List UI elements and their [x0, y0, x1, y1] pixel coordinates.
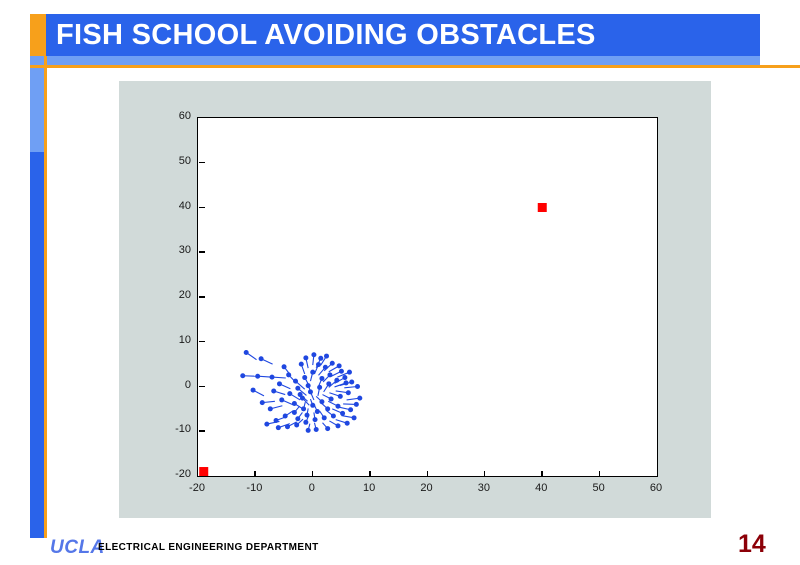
obstacle-markers-layer: [199, 203, 547, 476]
x-tick-label: 0: [292, 483, 332, 494]
y-tick-label: 10: [145, 335, 191, 346]
fish-marker: [260, 400, 275, 405]
y-tick-mark: [199, 386, 205, 388]
x-tick-label: 60: [636, 483, 676, 494]
fish-marker: [311, 352, 316, 365]
x-tick-label: 10: [349, 483, 389, 494]
y-tick-label: 30: [145, 245, 191, 256]
y-tick-label: -10: [145, 424, 191, 435]
y-tick-mark: [199, 162, 205, 164]
scatter-plot-svg: [198, 118, 657, 476]
fish-markers-layer: [240, 350, 362, 433]
fish-marker: [321, 403, 330, 411]
x-tick-mark: [312, 471, 314, 477]
fish-marker: [301, 402, 306, 411]
fish-marker: [323, 423, 331, 431]
fish-marker: [277, 381, 290, 388]
y-tick-mark: [199, 296, 205, 298]
page-title: FISH SCHOOL AVOIDING OBSTACLES: [56, 16, 756, 54]
sidebar-bar-dark: [30, 152, 44, 538]
fish-marker: [299, 362, 305, 374]
x-tick-mark: [599, 471, 601, 477]
matlab-figure-panel: -20-100102030405060-20-100102030405060: [119, 81, 711, 518]
plot-axes-area: [197, 117, 658, 477]
slide-canvas: FISH SCHOOL AVOIDING OBSTACLES -20-10010…: [0, 0, 800, 565]
fish-marker: [323, 395, 334, 402]
y-tick-mark: [199, 341, 205, 343]
x-tick-label: 50: [579, 483, 619, 494]
sidebar-bar-light: [30, 68, 44, 152]
footer-department-label: ELECTRICAL ENGINEERING DEPARTMENT: [98, 542, 319, 553]
fish-marker: [259, 356, 273, 364]
y-tick-label: 60: [145, 111, 191, 122]
x-tick-mark: [254, 471, 256, 477]
fish-marker: [347, 396, 363, 401]
x-tick-label: -10: [234, 483, 274, 494]
y-tick-label: 20: [145, 290, 191, 301]
y-tick-mark: [199, 430, 205, 432]
fish-marker: [329, 421, 340, 428]
fish-marker: [306, 424, 311, 433]
fish-marker: [328, 401, 340, 408]
fish-marker: [268, 406, 283, 412]
y-tick-label: 50: [145, 156, 191, 167]
footer-org-logo: UCLA: [50, 537, 105, 559]
banner-under-band: [30, 56, 760, 65]
page-number: 14: [738, 530, 778, 559]
fish-marker: [336, 390, 351, 395]
fish-marker: [255, 374, 271, 379]
obstacle-marker: [538, 203, 547, 212]
fish-marker: [303, 355, 308, 368]
fish-marker: [323, 372, 332, 382]
fish-marker: [320, 411, 327, 420]
x-tick-label: -20: [177, 483, 217, 494]
x-tick-mark: [541, 471, 543, 477]
banner-orange-accent-block: [30, 14, 46, 56]
fish-marker: [326, 410, 336, 418]
y-tick-label: 0: [145, 380, 191, 391]
x-tick-label: 40: [521, 483, 561, 494]
fish-marker: [314, 423, 319, 432]
fish-marker: [317, 385, 322, 396]
x-tick-label: 30: [464, 483, 504, 494]
fish-marker: [341, 415, 356, 420]
y-tick-label: 40: [145, 201, 191, 212]
y-tick-mark: [199, 207, 205, 209]
fish-marker: [310, 370, 315, 381]
x-tick-mark: [484, 471, 486, 477]
fish-marker: [279, 397, 293, 404]
x-tick-label: 20: [407, 483, 447, 494]
fish-marker: [271, 388, 285, 394]
fish-marker: [316, 396, 324, 404]
fish-marker: [244, 350, 257, 360]
banner-orange-rule: [30, 65, 800, 68]
fish-marker: [314, 362, 321, 374]
sidebar-orange-rule: [44, 56, 47, 538]
x-tick-mark: [369, 471, 371, 477]
fish-marker: [240, 373, 256, 378]
y-tick-label: -20: [145, 469, 191, 480]
obstacle-marker: [199, 467, 208, 476]
fish-marker: [339, 407, 354, 412]
fish-marker: [343, 402, 359, 407]
fish-marker: [314, 405, 319, 414]
fish-marker: [270, 375, 286, 380]
x-tick-mark: [427, 471, 429, 477]
y-tick-mark: [199, 251, 205, 253]
fish-marker: [251, 388, 264, 396]
